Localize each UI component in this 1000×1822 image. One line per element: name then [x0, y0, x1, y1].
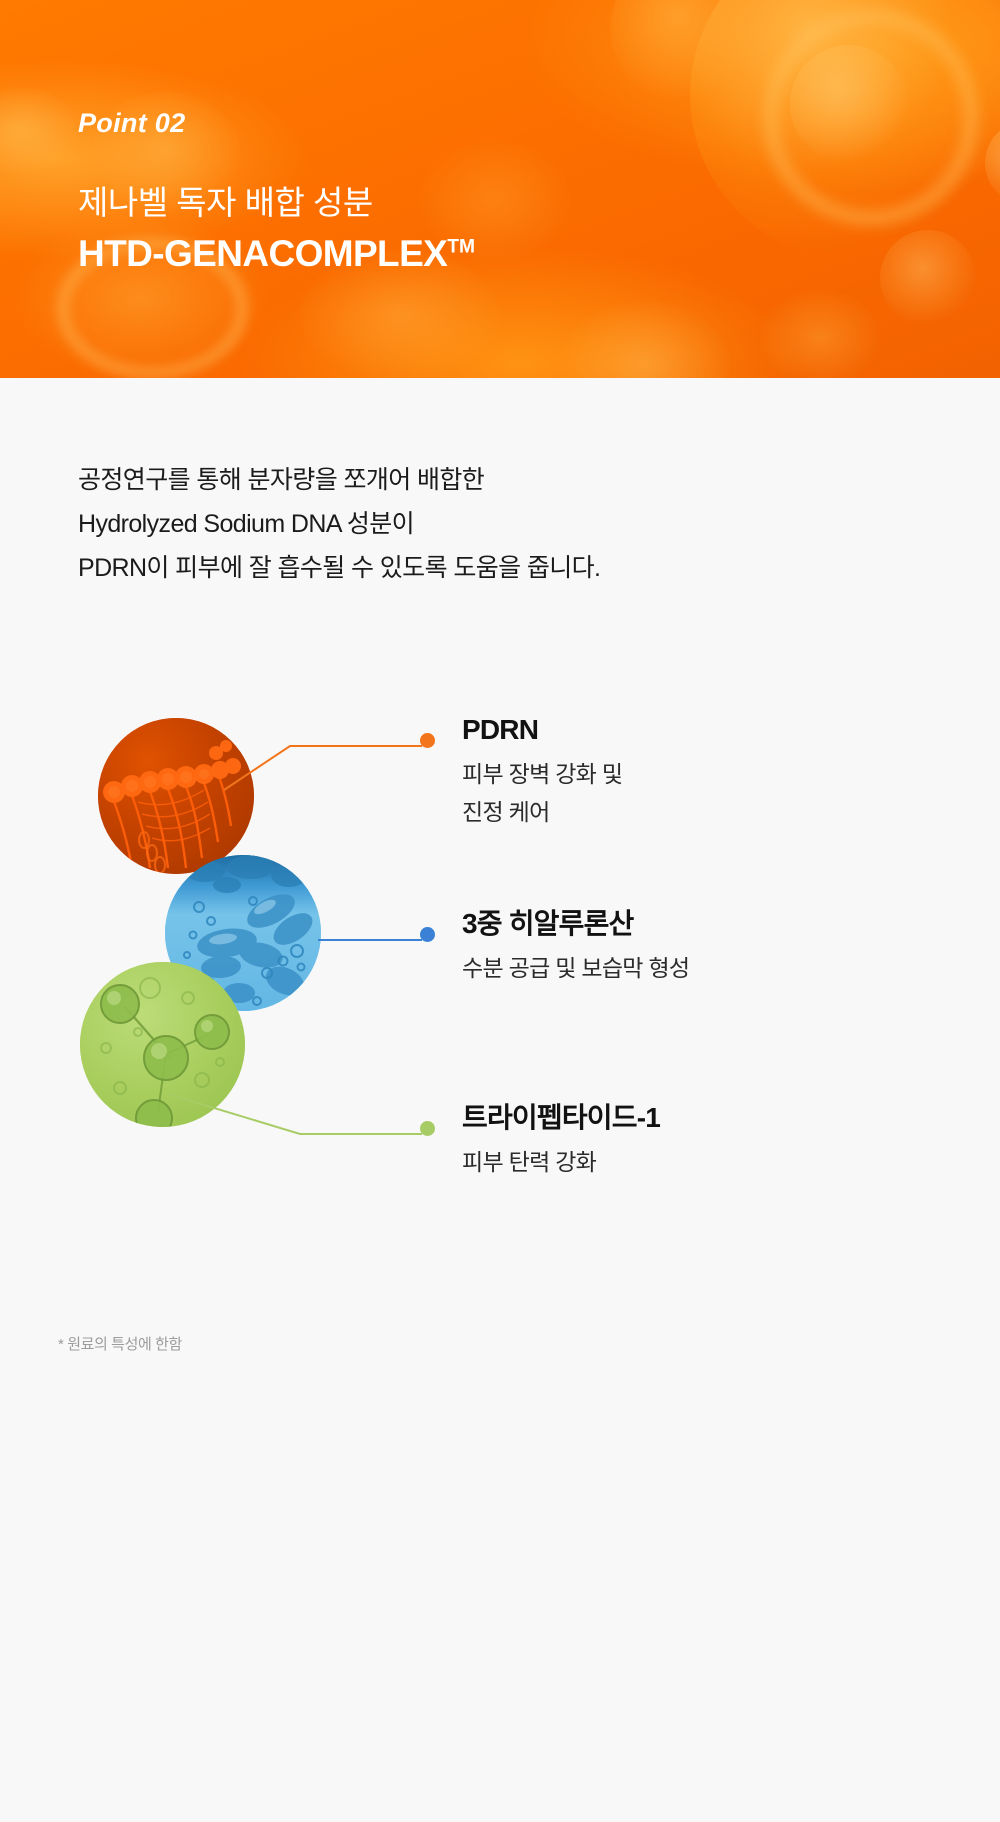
ingredient-description-line: 피부 탄력 강화 [462, 1143, 660, 1181]
hero-banner: Point 02 제나벨 독자 배합 성분 HTD-GENACOMPLEXTM [0, 0, 1000, 378]
hero-eyebrow: Point 02 [78, 108, 185, 139]
trademark-symbol: TM [447, 237, 475, 258]
ingredient-item: 트라이펩타이드-1 피부 탄력 강화 [462, 1100, 660, 1181]
ingredient-description: 수분 공급 및 보습막 형성 [462, 949, 689, 987]
ingredient-item: PDRN 피부 장벽 강화 및 진정 케어 [462, 712, 622, 831]
decorative-bubble-icon [985, 120, 1000, 206]
ingredient-name: 트라이펩타이드-1 [462, 1100, 660, 1135]
decorative-bubble-icon [560, 300, 730, 378]
ingredient-name: PDRN [462, 712, 622, 747]
product-detail-page: Point 02 제나벨 독자 배합 성분 HTD-GENACOMPLEXTM … [0, 0, 1000, 1822]
body-line-1: 공정연구를 통해 분자량을 쪼개어 배합한 [78, 458, 898, 502]
ingredient-dot-pdrn [420, 733, 435, 748]
decorative-bubble-icon [880, 230, 976, 326]
hero-korean-title: 제나벨 독자 배합 성분 [78, 176, 373, 224]
ingredient-dot-tripeptide [420, 1121, 435, 1136]
hero-english-title: HTD-GENACOMPLEXTM [78, 233, 475, 275]
hero-english-title-text: HTD-GENACOMPLEX [78, 233, 447, 274]
ingredient-name: 3중 히알루론산 [462, 906, 689, 941]
ingredient-dot-hyaluronic [420, 927, 435, 942]
decorative-bubble-icon [0, 88, 80, 174]
connector-line-pdrn [224, 746, 422, 790]
body-paragraph: 공정연구를 통해 분자량을 쪼개어 배합한 Hydrolyzed Sodium … [78, 458, 898, 590]
ingredient-description-line: 수분 공급 및 보습막 형성 [462, 949, 689, 987]
footnote: * 원료의 특성에 한함 [58, 1333, 182, 1354]
ingredient-description: 피부 탄력 강화 [462, 1143, 660, 1181]
connector-line-tripeptide [168, 1094, 422, 1134]
body-line-2: Hydrolyzed Sodium DNA 성분이 [78, 502, 898, 546]
ingredient-description: 피부 장벽 강화 및 진정 케어 [462, 755, 622, 831]
decorative-bubble-icon [790, 45, 908, 163]
body-line-3: PDRN이 피부에 잘 흡수될 수 있도록 도움을 줍니다. [78, 546, 898, 590]
decorative-bubble-icon [610, 0, 760, 104]
ingredient-description-line: 진정 케어 [462, 793, 622, 831]
ingredient-description-line: 피부 장벽 강화 및 [462, 755, 622, 793]
decorative-bubble-icon [690, 0, 1000, 260]
decorative-bubble-icon [760, 290, 880, 378]
ingredient-item: 3중 히알루론산 수분 공급 및 보습막 형성 [462, 906, 689, 987]
